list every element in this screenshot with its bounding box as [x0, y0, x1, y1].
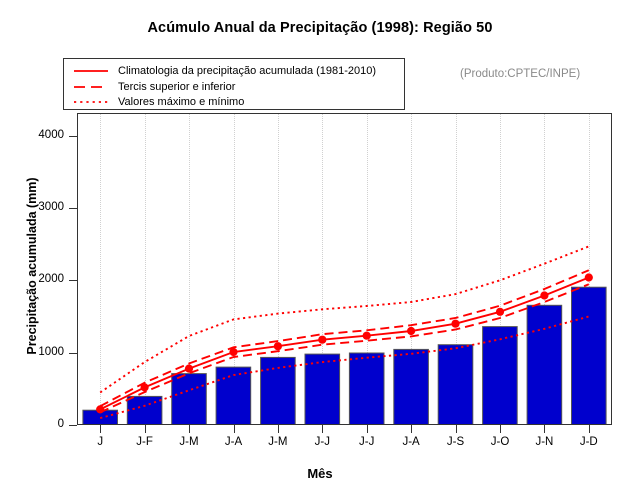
- legend-item: Valores máximo e mínimo: [64, 95, 404, 110]
- x-axis-tick: [367, 425, 368, 433]
- x-axis-tick: [278, 425, 279, 433]
- chart-legend: Climatologia da precipitação acumulada (…: [63, 58, 405, 110]
- x-axis-tick-label: J-D: [559, 436, 619, 448]
- legend-label-minmax: Valores máximo e mínimo: [118, 96, 244, 108]
- x-axis-tick: [500, 425, 501, 433]
- y-axis-tick: [69, 280, 77, 281]
- x-axis-tick: [544, 425, 545, 433]
- x-axis-title: Mês: [0, 466, 640, 481]
- x-axis-tick: [189, 425, 190, 433]
- legend-item: Tercis superior e inferior: [64, 80, 404, 95]
- x-axis-tick: [145, 425, 146, 433]
- chart-page: Acúmulo Anual da Precipitação (1998): Re…: [0, 0, 640, 500]
- legend-label-climatology: Climatologia da precipitação acumulada (…: [118, 65, 376, 77]
- legend-key-dotted-icon: [72, 96, 118, 108]
- x-axis-tick: [589, 425, 590, 433]
- legend-label-tercis: Tercis superior e inferior: [118, 81, 235, 93]
- y-axis-title: Precipitação acumulada (mm): [25, 136, 39, 396]
- legend-key-solid-icon: [72, 65, 118, 77]
- x-axis-tick: [322, 425, 323, 433]
- y-axis-tick: [69, 136, 77, 137]
- plot-frame: [77, 113, 612, 425]
- x-axis-tick: [456, 425, 457, 433]
- y-axis-tick: [69, 208, 77, 209]
- legend-key-dashed-icon: [72, 81, 118, 93]
- x-axis-tick: [411, 425, 412, 433]
- y-axis-tick: [69, 425, 77, 426]
- x-axis-tick: [100, 425, 101, 433]
- producer-credit: (Produto:CPTEC/INPE): [460, 68, 580, 80]
- chart-title: Acúmulo Anual da Precipitação (1998): Re…: [0, 20, 640, 36]
- legend-item: Climatologia da precipitação acumulada (…: [64, 64, 404, 79]
- y-axis-tick: [69, 353, 77, 354]
- x-axis-tick: [234, 425, 235, 433]
- y-axis-tick-label: 0: [18, 418, 64, 430]
